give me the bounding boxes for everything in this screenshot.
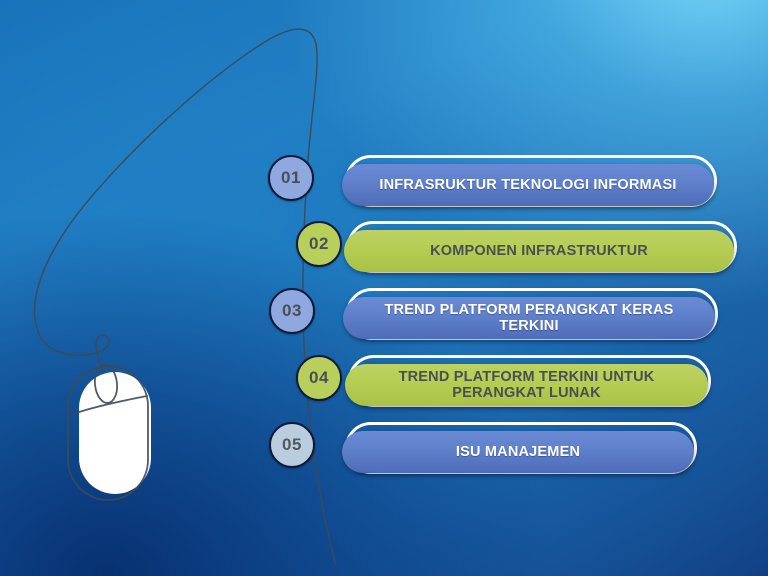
agenda-pill-05[interactable]: ISU MANAJEMEN [342,431,694,473]
step-badge-03[interactable]: 03 [269,288,315,334]
agenda-pill-04[interactable]: TREND PLATFORM TERKINI UNTUK PERANGKAT L… [345,364,708,406]
agenda-label-04: TREND PLATFORM TERKINI UNTUK PERANGKAT L… [385,369,669,401]
step-number: 05 [282,435,302,455]
agenda-pill-01[interactable]: INFRASRUKTUR TEKNOLOGI INFORMASI [342,164,714,206]
agenda-pill-outline-05: ISU MANAJEMEN [345,422,697,474]
step-number: 02 [309,234,329,254]
agenda-pill-02[interactable]: KOMPONEN INFRASTRUKTUR [344,230,734,272]
step-badge-04[interactable]: 04 [296,355,342,401]
step-number: 04 [309,368,329,388]
agenda-pill-outline-03: TREND PLATFORM PERANGKAT KERAS TERKINI [346,288,718,340]
agenda-label-02: KOMPONEN INFRASTRUKTUR [416,243,662,259]
agenda-label-01: INFRASRUKTUR TEKNOLOGI INFORMASI [365,177,690,193]
agenda-label-03: TREND PLATFORM PERANGKAT KERAS TERKINI [343,302,715,334]
agenda-label-05: ISU MANAJEMEN [442,444,594,460]
agenda-pill-outline-04: TREND PLATFORM TERKINI UNTUK PERANGKAT L… [348,355,711,407]
step-number: 03 [282,301,302,321]
agenda-pill-outline-02: KOMPONEN INFRASTRUKTUR [347,221,737,273]
agenda-list: 01 INFRASRUKTUR TEKNOLOGI INFORMASI 02 K… [0,0,768,576]
agenda-pill-outline-01: INFRASRUKTUR TEKNOLOGI INFORMASI [345,155,717,207]
step-badge-01[interactable]: 01 [268,155,314,201]
step-badge-05[interactable]: 05 [269,422,315,468]
step-badge-02[interactable]: 02 [296,221,342,267]
agenda-pill-03[interactable]: TREND PLATFORM PERANGKAT KERAS TERKINI [343,297,715,339]
presentation-slide: 01 INFRASRUKTUR TEKNOLOGI INFORMASI 02 K… [0,0,768,576]
step-number: 01 [281,168,301,188]
